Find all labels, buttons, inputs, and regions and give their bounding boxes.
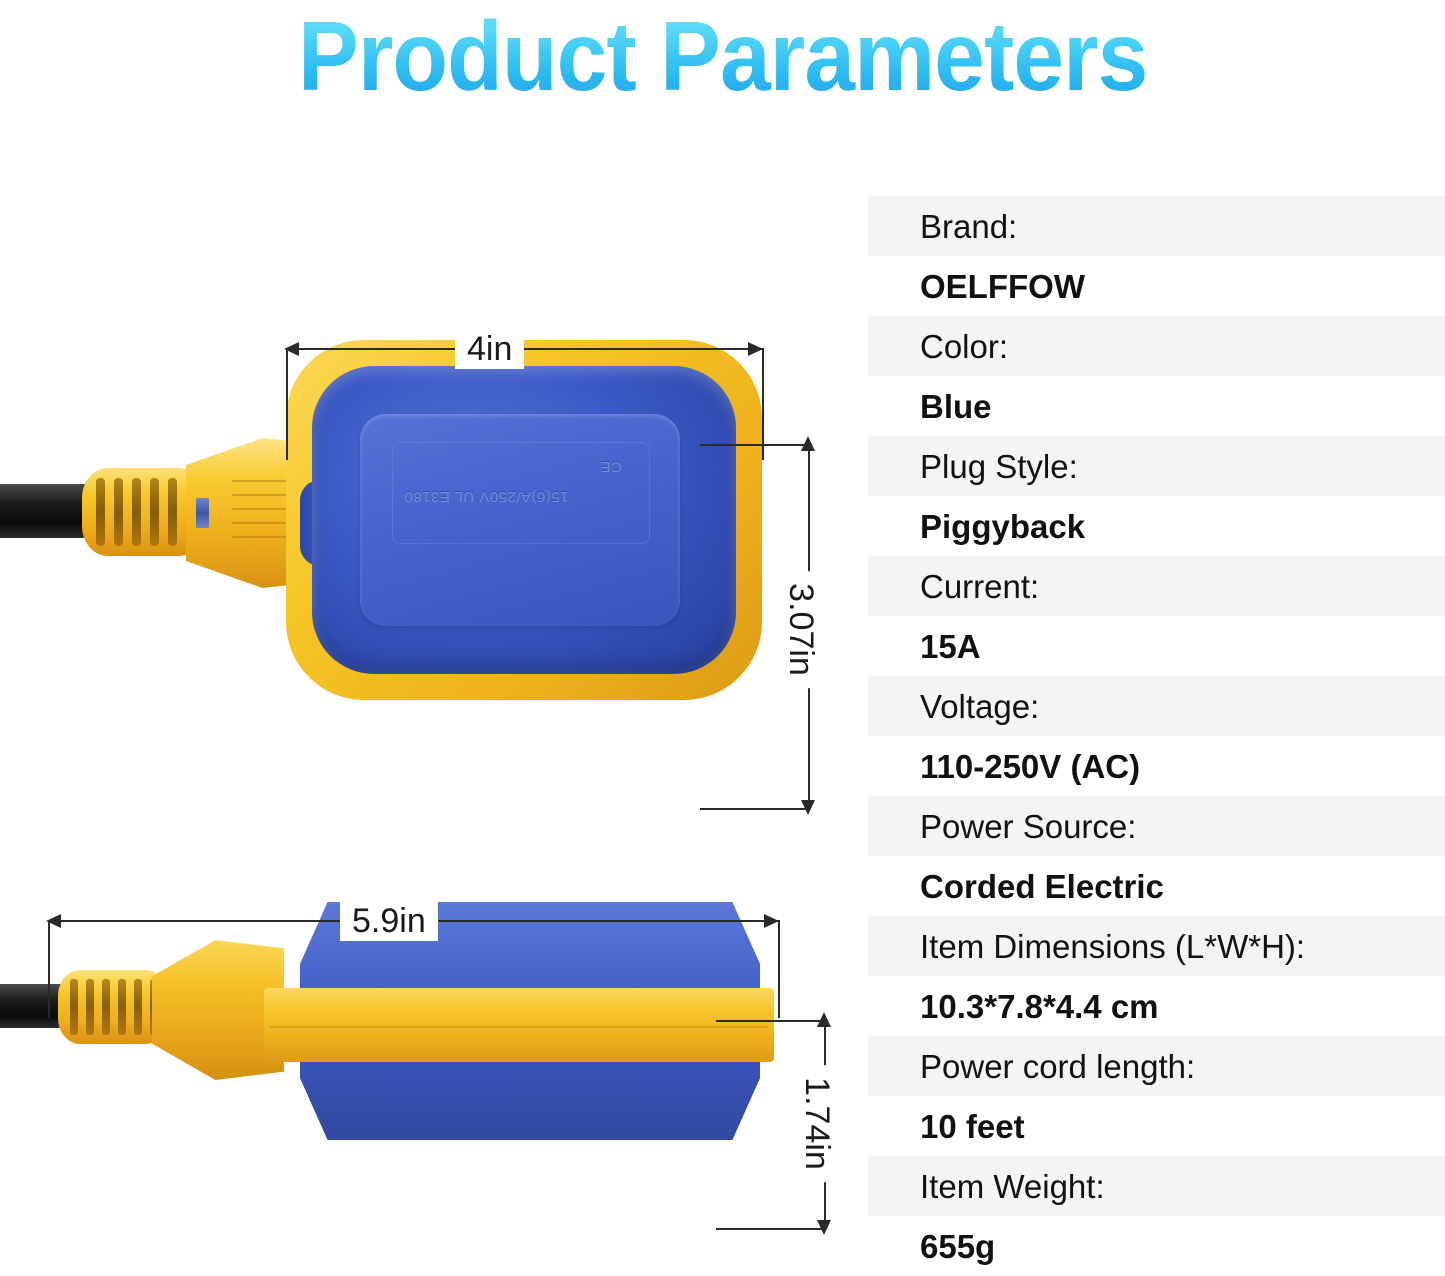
dim-label-side-height: 1.74in [797, 1065, 836, 1182]
spec-label-row: Plug Style: [868, 436, 1445, 496]
dim-ext-line [700, 808, 810, 810]
spec-value-row: 110-250V (AC) [868, 736, 1445, 796]
spec-value-row: OELFFOW [868, 256, 1445, 316]
spec-label-row: Power Source: [868, 796, 1445, 856]
spec-value-row: Blue [868, 376, 1445, 436]
spec-label: Brand: [920, 210, 1017, 243]
spec-value-row: 10.3*7.8*4.4 cm [868, 976, 1445, 1036]
spec-value: 10 feet [920, 1110, 1025, 1143]
spec-label: Voltage: [920, 690, 1039, 723]
spec-label: Power cord length: [920, 1050, 1195, 1083]
dim-label-top-height: 3.07in [781, 571, 820, 688]
spec-label: Color: [920, 330, 1008, 363]
strain-relief-boot [82, 468, 204, 556]
spec-label: Item Weight: [920, 1170, 1105, 1203]
spec-value-row: 15A [868, 616, 1445, 676]
dim-arrow-right-icon [764, 914, 779, 928]
spec-value: 15A [920, 630, 981, 663]
spec-label: Item Dimensions (L*W*H): [920, 930, 1305, 963]
spec-label: Power Source: [920, 810, 1136, 843]
dim-label-top-width: 4in [455, 330, 524, 369]
product-figures-area: 15(6)A/250V UL E3180 CE 4in 3.07in [0, 112, 860, 1268]
dim-ext-line [716, 1020, 826, 1022]
float-housing-yellow-band [264, 988, 774, 1062]
spec-value-row: 655g [868, 1216, 1445, 1276]
figure-top-view: 15(6)A/250V UL E3180 CE 4in 3.07in [0, 330, 790, 710]
collar-screw [196, 498, 209, 528]
strain-relief-boot [58, 970, 168, 1044]
dim-arrow-right-icon [748, 342, 763, 356]
specification-table: Brand: OELFFOW Color: Blue Plug Style: P… [868, 196, 1445, 1276]
spec-label-row: Current: [868, 556, 1445, 616]
dim-label-side-width: 5.9in [340, 902, 438, 941]
spec-value-row: Corded Electric [868, 856, 1445, 916]
page-title-container: Product Parameters [0, 0, 1445, 112]
dim-ext-line [716, 1228, 826, 1230]
band-parting-line [270, 1026, 768, 1028]
figure-side-view: 5.9in 1.74in [0, 892, 800, 1152]
spec-label-row: Item Dimensions (L*W*H): [868, 916, 1445, 976]
spec-label-row: Power cord length: [868, 1036, 1445, 1096]
spec-value: 10.3*7.8*4.4 cm [920, 990, 1159, 1023]
spec-label-row: Brand: [868, 196, 1445, 256]
spec-label: Plug Style: [920, 450, 1078, 483]
spec-value-row: 10 feet [868, 1096, 1445, 1156]
dim-ext-line [48, 920, 50, 1018]
spec-label-row: Voltage: [868, 676, 1445, 736]
spec-label-row: Item Weight: [868, 1156, 1445, 1216]
dim-ext-line [778, 920, 780, 1018]
page-title: Product Parameters [298, 0, 1147, 113]
spec-label: Current: [920, 570, 1039, 603]
spec-value: 655g [920, 1230, 995, 1263]
spec-value: 110-250V (AC) [920, 750, 1140, 783]
spec-value: Blue [920, 390, 992, 423]
spec-value-row: Piggyback [868, 496, 1445, 556]
spec-label-row: Color: [868, 316, 1445, 376]
spec-value: Piggyback [920, 510, 1085, 543]
embossed-rating-text: 15(6)A/250V UL E3180 [404, 488, 569, 505]
embossed-ce-mark: CE [600, 458, 622, 475]
spec-value: OELFFOW [920, 270, 1085, 303]
dim-ext-line [286, 348, 288, 460]
spec-value: Corded Electric [920, 870, 1164, 903]
dim-ext-line [700, 444, 810, 446]
